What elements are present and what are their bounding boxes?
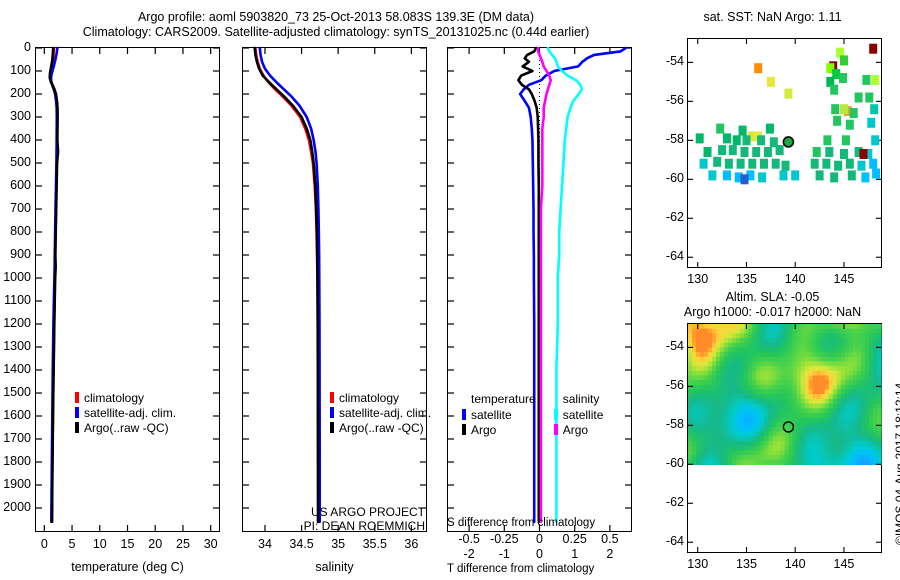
axis-tick-label: 0.5 (580, 532, 640, 546)
depth-tick-label: 100 (0, 63, 31, 77)
legend-swatch (554, 424, 558, 435)
depth-tick-label: 1500 (0, 385, 31, 399)
depth-tick-label: 1000 (0, 270, 31, 284)
legend-swatch (330, 392, 334, 403)
lat-tick-label: -62 (656, 210, 684, 224)
lon-tick-label: 145 (819, 272, 869, 286)
legend-entry: Argo (554, 422, 604, 437)
lat-tick-label: -58 (656, 417, 684, 431)
lat-tick-label: -54 (656, 339, 684, 353)
legend-label: satellite (471, 408, 512, 422)
legend-label: satellite-adj. clim. (339, 406, 431, 420)
difference-legend: temperaturesatelliteArgosalinitysatellit… (462, 392, 603, 437)
legend-swatch (330, 407, 334, 418)
lat-tick-label: -56 (656, 378, 684, 392)
project-credit-line1: US ARGO PROJECT (247, 505, 425, 520)
lat-tick-label: -64 (656, 534, 684, 548)
legend-label: Argo (563, 423, 588, 437)
legend-entry: satellite (462, 407, 536, 422)
legend-swatch (75, 407, 79, 418)
lon-tick-label: 140 (770, 272, 820, 286)
depth-tick-label: 1600 (0, 408, 31, 422)
lat-tick-label: -60 (656, 171, 684, 185)
depth-tick-label: 300 (0, 109, 31, 123)
figure-title-line1: Argo profile: aoml 5903820_73 25-Oct-201… (0, 10, 672, 25)
legend-label: satellite-adj. clim. (84, 406, 176, 420)
legend-swatch (462, 424, 466, 435)
lat-tick-label: -62 (656, 495, 684, 509)
depth-tick-label: 400 (0, 132, 31, 146)
sla-map-panel (687, 323, 882, 553)
legend-entry: satellite-adj. clim. (75, 405, 176, 420)
axis-tick-label: 36 (381, 537, 441, 551)
lon-tick-label: 130 (673, 272, 723, 286)
lat-tick-label: -54 (656, 54, 684, 68)
difference-plot-area (448, 48, 631, 531)
legend-entry: satellite-adj. clim. (330, 405, 431, 420)
salinity-plot-area (243, 48, 426, 531)
lat-tick-label: -58 (656, 132, 684, 146)
legend-label: Argo(..raw -QC) (84, 421, 169, 435)
legend-label: climatology (84, 391, 144, 405)
sla-map-title-line1: Altim. SLA: -0.05 (660, 290, 885, 305)
depth-tick-label: 600 (0, 178, 31, 192)
legend-swatch (554, 409, 558, 420)
figure-canvas: Argo profile: aoml 5903820_73 25-Oct-201… (0, 0, 900, 580)
temperature-plot-area (36, 48, 219, 531)
legend-label: Argo (471, 423, 496, 437)
imos-credit: ©IMOS 04-Aug-2017 18:12:14 (893, 383, 900, 545)
salinity-legend: climatologysatellite-adj. clim.Argo(..ra… (330, 390, 431, 435)
axis-tick-label: 2 (580, 547, 640, 561)
sla-map-title-line2: Argo h1000: -0.017 h2000: NaN (655, 305, 890, 320)
legend-swatch (462, 409, 466, 420)
legend-swatch (330, 422, 334, 433)
depth-tick-label: 200 (0, 86, 31, 100)
legend-column: salinitysatelliteArgo (554, 392, 604, 437)
legend-entry: climatology (75, 390, 176, 405)
depth-tick-label: 700 (0, 201, 31, 215)
depth-tick-label: 1900 (0, 477, 31, 491)
depth-tick-label: 1100 (0, 293, 31, 307)
lat-tick-label: -56 (656, 93, 684, 107)
axis-tick-label: 30 (181, 537, 241, 551)
legend-label: Argo(..raw -QC) (339, 421, 424, 435)
sst-map-panel (687, 38, 882, 268)
lon-tick-label: 145 (819, 557, 869, 571)
legend-entry: Argo (462, 422, 536, 437)
sla-map-plot-area (688, 324, 881, 552)
sst-map-plot-area (688, 39, 881, 267)
depth-tick-label: 1200 (0, 316, 31, 330)
temperature-axis-label: temperature (deg C) (35, 560, 220, 574)
depth-tick-label: 1300 (0, 339, 31, 353)
depth-tick-label: 2000 (0, 500, 31, 514)
temperature-legend: climatologysatellite-adj. clim.Argo(..ra… (75, 390, 176, 435)
project-credit-line2: PI: DEAN ROEMMICH (247, 519, 425, 534)
legend-swatch (75, 392, 79, 403)
legend-entry: satellite (554, 407, 604, 422)
lon-tick-label: 130 (673, 557, 723, 571)
lon-tick-label: 135 (721, 272, 771, 286)
depth-tick-label: 900 (0, 247, 31, 261)
sst-map-title: sat. SST: NaN Argo: 1.11 (660, 10, 885, 25)
depth-tick-label: 1400 (0, 362, 31, 376)
lat-tick-label: -60 (656, 456, 684, 470)
legend-column-header: salinity (563, 392, 604, 407)
legend-entry: Argo(..raw -QC) (330, 420, 431, 435)
legend-entry: climatology (330, 390, 431, 405)
depth-tick-label: 1800 (0, 454, 31, 468)
legend-column-header: temperature (471, 392, 536, 407)
legend-label: satellite (563, 408, 604, 422)
lon-tick-label: 135 (721, 557, 771, 571)
depth-tick-label: 0 (0, 40, 31, 54)
salinity-axis-label: salinity (242, 560, 427, 574)
figure-title-line2: Climatology: CARS2009. Satellite-adjuste… (0, 25, 672, 40)
difference-panel (447, 47, 632, 532)
depth-tick-label: 500 (0, 155, 31, 169)
salinity-panel (242, 47, 427, 532)
difference-t-axis-label: T difference from climatology (447, 563, 637, 575)
legend-swatch (75, 422, 79, 433)
legend-column: temperaturesatelliteArgo (462, 392, 536, 437)
depth-tick-label: 1700 (0, 431, 31, 445)
difference-s-axis-label: S difference from climatology (447, 517, 632, 529)
lat-tick-label: -64 (656, 249, 684, 263)
legend-label: climatology (339, 391, 399, 405)
legend-entry: Argo(..raw -QC) (75, 420, 176, 435)
temperature-panel (35, 47, 220, 532)
depth-tick-label: 800 (0, 224, 31, 238)
lon-tick-label: 140 (770, 557, 820, 571)
